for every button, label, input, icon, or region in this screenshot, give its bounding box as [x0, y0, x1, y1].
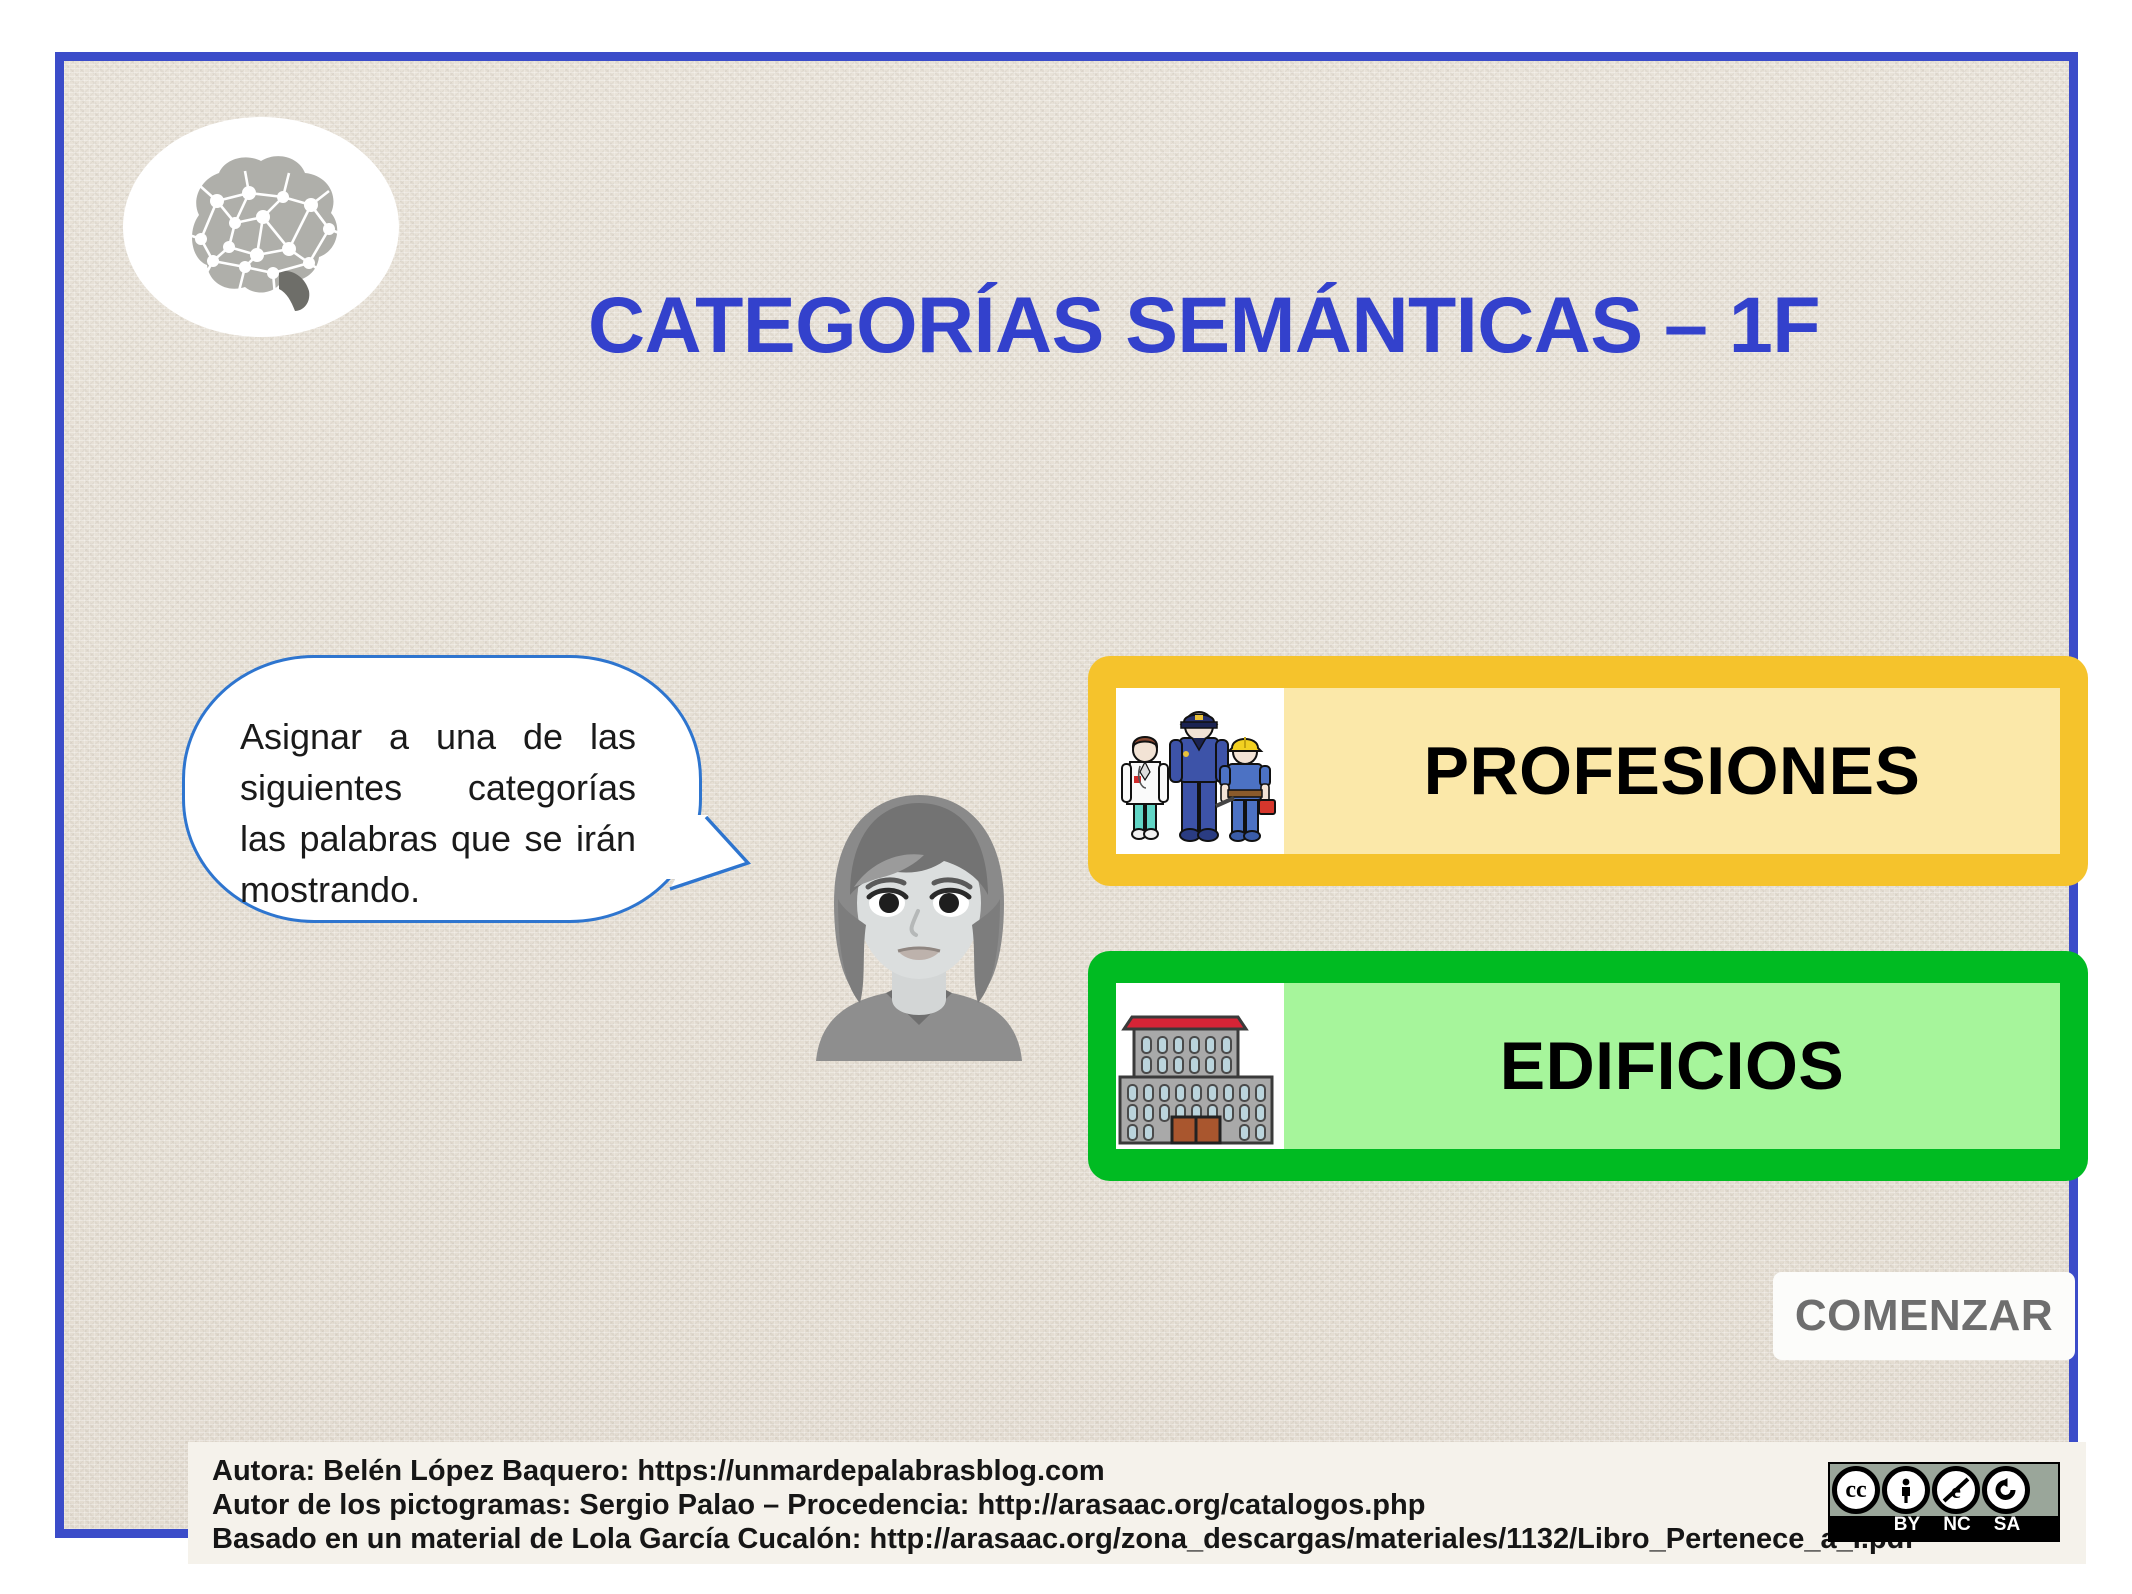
cc-by-icon: [1882, 1466, 1930, 1514]
page-title: CATEGORÍAS SEMÁNTICAS – 1F: [404, 279, 2004, 371]
cc-icon-row: cc e: [1830, 1464, 2058, 1516]
brain-logo: [123, 117, 399, 337]
category-card-profesiones[interactable]: PROFESIONES: [1088, 656, 2088, 886]
cc-by-nc-sa-badge: cc e: [1828, 1462, 2060, 1542]
category-label-edificios: EDIFICIOS: [1284, 1027, 2060, 1105]
footer-line-pictograms: Autor de los pictogramas: Sergio Palao –…: [212, 1488, 1914, 1522]
footer-line-author: Autora: Belén López Baquero: https://unm…: [212, 1454, 1914, 1488]
category-inner-edificios: EDIFICIOS: [1116, 983, 2060, 1149]
brain-network-icon: [153, 143, 369, 313]
footer-credits: Autora: Belén López Baquero: https://unm…: [188, 1442, 2086, 1564]
speech-bubble-tail: [648, 815, 778, 935]
instruction-speech-bubble: Asignar a una de las siguientes categorí…: [182, 655, 702, 923]
cc-icon: cc: [1832, 1466, 1880, 1514]
footer-text-block: Autora: Belén López Baquero: https://unm…: [212, 1454, 1914, 1556]
category-inner-profesiones: PROFESIONES: [1116, 688, 2060, 854]
professions-pictogram: [1116, 688, 1284, 854]
cc-label-nc: NC: [1932, 1514, 1982, 1536]
cc-label-by: BY: [1882, 1514, 1932, 1536]
cc-nc-icon: e: [1932, 1466, 1980, 1514]
cc-sa-icon: [1982, 1466, 2030, 1514]
woman-avatar-icon: [794, 775, 1044, 1061]
building-pictogram: [1116, 983, 1284, 1149]
cc-label-row: BY NC SA: [1882, 1511, 2058, 1539]
footer-line-source: Basado en un material de Lola García Cuc…: [212, 1522, 1914, 1556]
category-card-edificios[interactable]: EDIFICIOS: [1088, 951, 2088, 1181]
instruction-text: Asignar a una de las siguientes categorí…: [240, 711, 636, 915]
category-label-profesiones: PROFESIONES: [1284, 732, 2060, 810]
slide-canvas: CATEGORÍAS SEMÁNTICAS – 1F Asignar a una…: [55, 52, 2078, 1538]
start-button[interactable]: COMENZAR: [1773, 1272, 2075, 1360]
cc-label-sa: SA: [1982, 1514, 2032, 1536]
